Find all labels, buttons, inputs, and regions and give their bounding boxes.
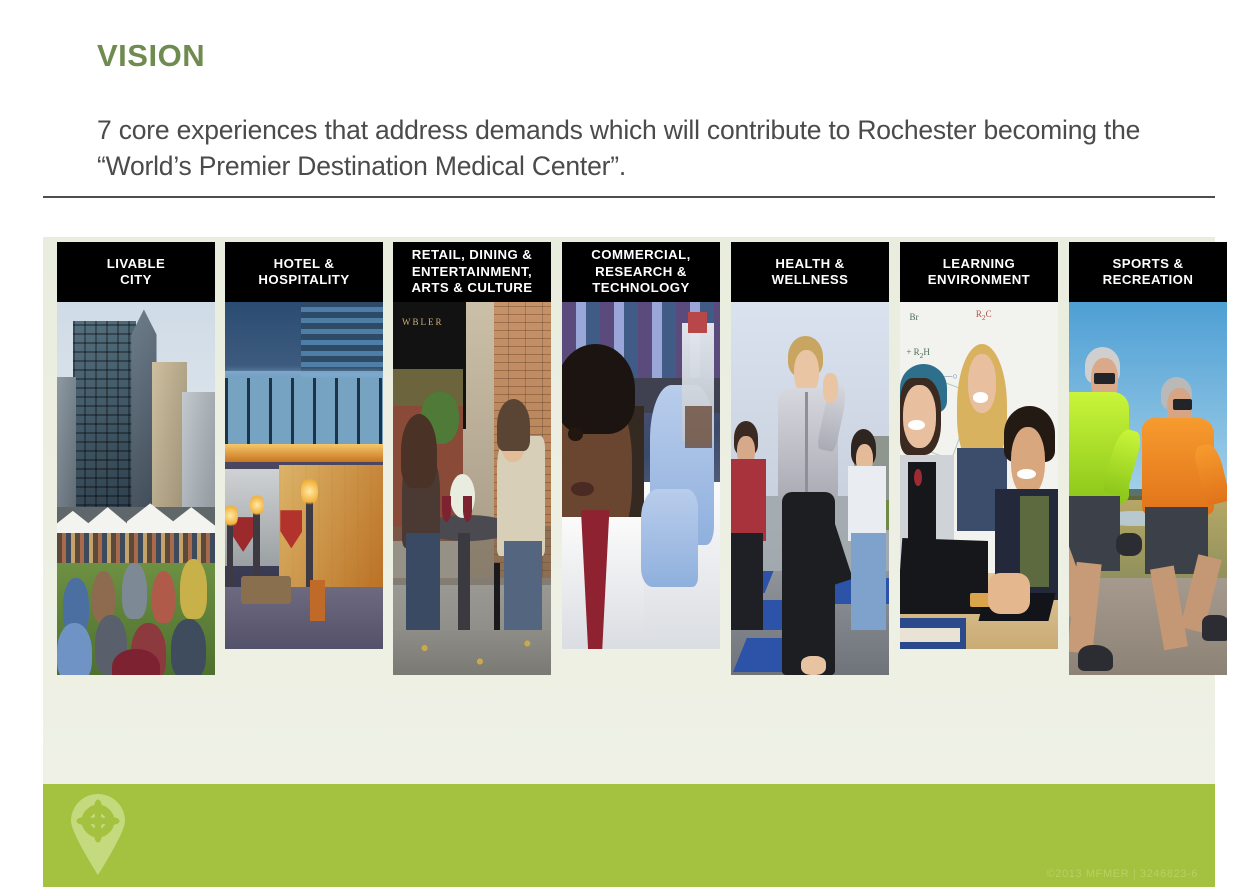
experience-column-sports-recreation[interactable]: SPORTS & RECREATION (1069, 242, 1227, 675)
experience-column-livable-city[interactable]: LIVABLE CITY (57, 242, 215, 675)
column-caption: HEALTH & WELLNESS (731, 242, 889, 302)
column-image-commercial-research (562, 302, 720, 649)
experience-column-health-wellness[interactable]: HEALTH & WELLNESS (731, 242, 889, 675)
experience-column-retail-dining[interactable]: RETAIL, DINING & ENTERTAINMENT, ARTS & C… (393, 242, 551, 675)
slide: VISION 7 core experiences that address d… (0, 0, 1257, 894)
column-image-livable-city (57, 302, 215, 675)
column-caption: HOTEL & HOSPITALITY (225, 242, 383, 302)
copyright-text: ©2013 MFMER | 3246823-6 (1047, 868, 1198, 880)
header-divider (43, 196, 1215, 198)
column-caption: RETAIL, DINING & ENTERTAINMENT, ARTS & C… (393, 242, 551, 302)
column-caption: LIVABLE CITY (57, 242, 215, 302)
page-title: VISION (97, 38, 205, 74)
slide-subtitle: 7 core experiences that address demands … (97, 112, 1217, 184)
mayo-clinic-shield-logo (67, 793, 129, 875)
experience-columns: LIVABLE CITY (43, 237, 1215, 784)
column-image-health-wellness (731, 302, 889, 675)
experience-column-hotel-hospitality[interactable]: HOTEL & HOSPITALITY (225, 242, 383, 649)
column-caption: SPORTS & RECREATION (1069, 242, 1227, 302)
column-image-hotel-hospitality (225, 302, 383, 649)
column-image-learning-environment: Br + R2H R2C ○—○ (900, 302, 1058, 649)
column-image-retail-dining: WBLER (393, 302, 551, 675)
experiences-panel: LIVABLE CITY (43, 237, 1215, 784)
experience-column-learning-environment[interactable]: LEARNING ENVIRONMENT Br + R2H R2C ○—○ (900, 242, 1058, 649)
column-image-sports-recreation (1069, 302, 1227, 675)
column-caption: COMMERCIAL, RESEARCH & TECHNOLOGY (562, 242, 720, 302)
footer-band: ©2013 MFMER | 3246823-6 (43, 784, 1215, 887)
column-caption: LEARNING ENVIRONMENT (900, 242, 1058, 302)
experience-column-commercial-research[interactable]: COMMERCIAL, RESEARCH & TECHNOLOGY (562, 242, 720, 649)
